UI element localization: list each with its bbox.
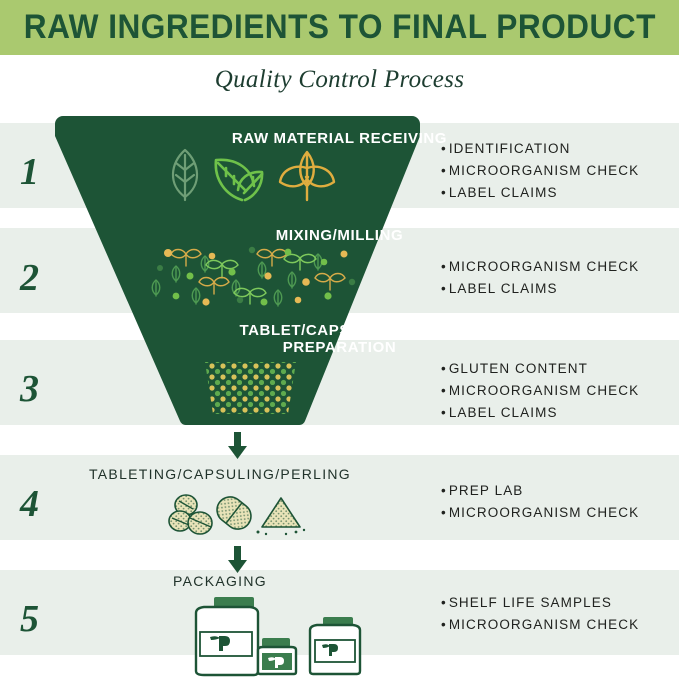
funnel-label-3a: TABLET/CAPSULE/PERLE [0, 322, 679, 339]
check-label: LABEL CLAIMS [449, 281, 558, 296]
bullet-icon: • [441, 141, 447, 156]
check-item: •MICROORGANISM CHECK [441, 256, 679, 278]
check-label: PREP LAB [449, 483, 524, 498]
check-item: •GLUTEN CONTENT [441, 358, 679, 380]
bullet-icon: • [441, 483, 447, 498]
check-item: •MICROORGANISM CHECK [441, 160, 679, 182]
step-number-3: 3 [20, 367, 60, 411]
checks-step-4: •PREP LAB •MICROORGANISM CHECK [441, 480, 679, 524]
stage-label-4: TABLETING/CAPSULING/PERLING [0, 466, 440, 482]
bullet-icon: • [441, 259, 447, 274]
bullet-icon: • [441, 281, 447, 296]
check-label: GLUTEN CONTENT [449, 361, 588, 376]
bullet-icon: • [441, 361, 447, 376]
checks-step-5: •SHELF LIFE SAMPLES •MICROORGANISM CHECK [441, 592, 679, 636]
header-band: RAW INGREDIENTS TO FINAL PRODUCT [0, 0, 679, 55]
step-number-4: 4 [20, 482, 60, 526]
step-number-2: 2 [20, 256, 60, 300]
check-item: •LABEL CLAIMS [441, 278, 679, 300]
check-item: •MICROORGANISM CHECK [441, 614, 679, 636]
check-label: LABEL CLAIMS [449, 185, 558, 200]
bullet-icon: • [441, 185, 447, 200]
check-label: SHELF LIFE SAMPLES [449, 595, 612, 610]
funnel-label-2: MIXING/MILLING [0, 227, 679, 244]
check-item: •LABEL CLAIMS [441, 182, 679, 204]
stage-label-5: PACKAGING [0, 573, 440, 589]
check-label: MICROORGANISM CHECK [449, 163, 639, 178]
check-label: MICROORGANISM CHECK [449, 259, 639, 274]
check-item: •MICROORGANISM CHECK [441, 502, 679, 524]
check-item: •LABEL CLAIMS [441, 402, 679, 424]
check-item: •IDENTIFICATION [441, 138, 679, 160]
step-number-1: 1 [20, 150, 60, 194]
checks-step-2: •MICROORGANISM CHECK •LABEL CLAIMS [441, 256, 679, 300]
bullet-icon: • [441, 617, 447, 632]
check-item: •SHELF LIFE SAMPLES [441, 592, 679, 614]
checks-step-3: •GLUTEN CONTENT •MICROORGANISM CHECK •LA… [441, 358, 679, 424]
check-label: IDENTIFICATION [449, 141, 571, 156]
checks-step-1: •IDENTIFICATION •MICROORGANISM CHECK •LA… [441, 138, 679, 204]
bullet-icon: • [441, 505, 447, 520]
check-label: MICROORGANISM CHECK [449, 617, 639, 632]
step-number-5: 5 [20, 597, 60, 641]
arrow-down-tableting-to-packaging [228, 546, 247, 573]
bullet-icon: • [441, 163, 447, 178]
check-label: MICROORGANISM CHECK [449, 505, 639, 520]
check-item: •MICROORGANISM CHECK [441, 380, 679, 402]
check-label: LABEL CLAIMS [449, 405, 558, 420]
check-item: •PREP LAB [441, 480, 679, 502]
funnel-label-3b: PREPARATION [0, 339, 679, 356]
page-subtitle: Quality Control Process [0, 66, 679, 94]
bullet-icon: • [441, 595, 447, 610]
page-title: RAW INGREDIENTS TO FINAL PRODUCT [23, 8, 655, 47]
check-label: MICROORGANISM CHECK [449, 383, 639, 398]
bullet-icon: • [441, 383, 447, 398]
bullet-icon: • [441, 405, 447, 420]
